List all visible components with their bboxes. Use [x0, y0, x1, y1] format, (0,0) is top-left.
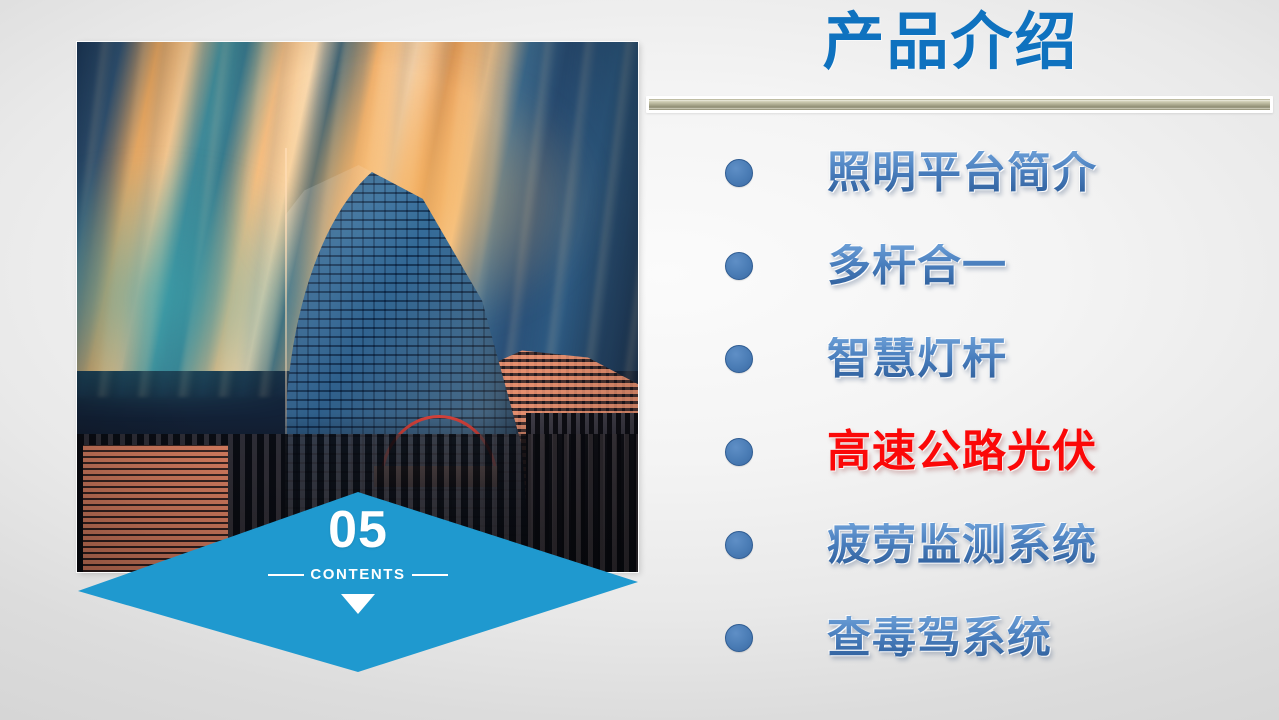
list-item-label: 查毒驾系统: [827, 616, 1052, 660]
list-item[interactable]: 查毒驾系统: [640, 591, 1279, 684]
list-item-highlighted[interactable]: 高速公路光伏: [640, 405, 1279, 498]
list-item[interactable]: 照明平台简介: [640, 126, 1279, 219]
bullet-dot-icon: [725, 159, 753, 187]
list-item-label: 高速公路光伏: [827, 430, 1097, 474]
bullet-dot-icon: [725, 438, 753, 466]
agenda-list: 照明平台简介 多杆合一 智慧灯杆 高速公路光伏 疲劳监测系统 查毒驾系统: [640, 126, 1279, 684]
page-title: 产品介绍: [640, 4, 1261, 82]
title-divider-bar: [649, 99, 1270, 110]
list-item-label: 照明平台简介: [827, 151, 1097, 195]
right-content-panel: 产品介绍 照明平台简介 多杆合一 智慧灯杆 高速公路光伏: [640, 0, 1279, 720]
presentation-slide: 05 CONTENTS 产品介绍 照明平台简介 多杆合一 智慧灯杆: [0, 0, 1279, 720]
list-item[interactable]: 多杆合一: [640, 219, 1279, 312]
bullet-dot-icon: [725, 252, 753, 280]
list-item-label: 多杆合一: [827, 244, 1007, 288]
bullet-dot-icon: [725, 531, 753, 559]
title-divider: [646, 96, 1273, 113]
bullet-dot-icon: [725, 345, 753, 373]
list-item[interactable]: 疲劳监测系统: [640, 498, 1279, 591]
bullet-dot-icon: [725, 624, 753, 652]
list-item[interactable]: 智慧灯杆: [640, 312, 1279, 405]
list-item-label: 疲劳监测系统: [827, 523, 1097, 567]
list-item-label: 智慧灯杆: [827, 337, 1007, 381]
